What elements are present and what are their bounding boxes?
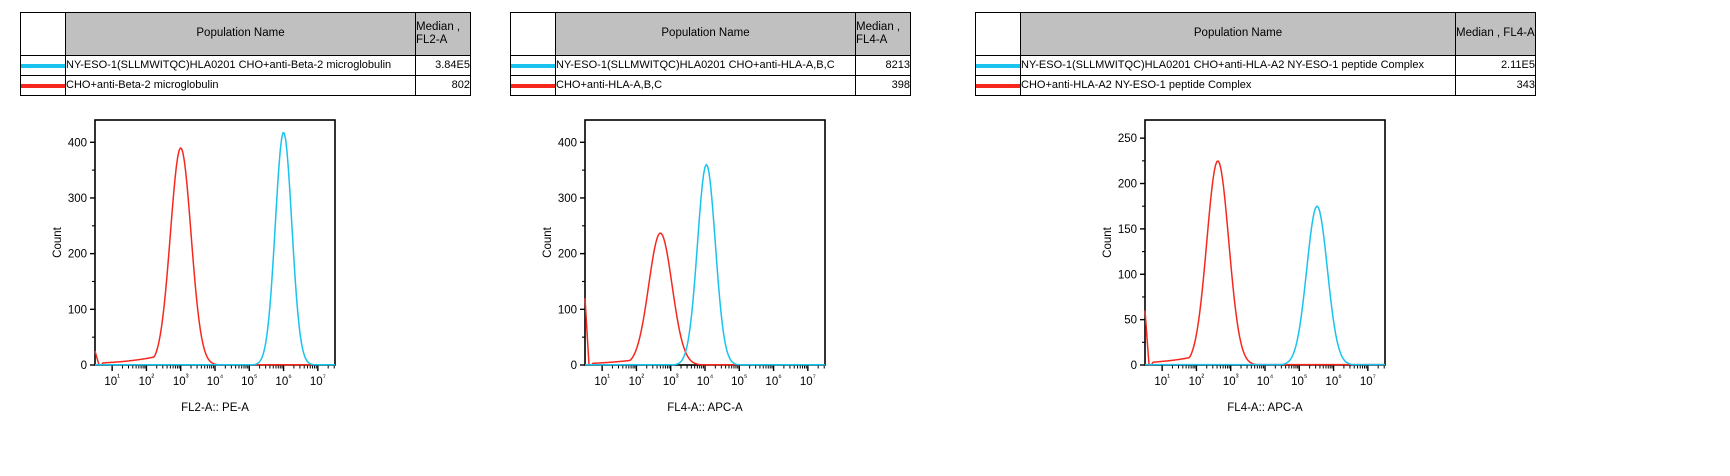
population-name-header: Population Name [1021,13,1456,56]
series-color-swatch-cell [511,56,556,76]
table-row: CHO+anti-HLA-A2 NY-ESO-1 peptide Complex… [976,76,1536,96]
population-name-header: Population Name [66,13,416,56]
x-tick-label: 10⁴ [207,372,224,388]
population-name-cell: CHO+anti-Beta-2 microglobulin [66,76,416,96]
series-color-swatch-cell [511,76,556,96]
y-tick-label: 50 [1124,315,1137,327]
y-tick-label: 100 [1118,269,1137,281]
y-tick-label: 300 [68,193,87,205]
table-row: CHO+anti-HLA-A,B,C398 [511,76,911,96]
median-header-line: FL2-A [416,34,470,47]
x-tick-label: 10⁷ [800,372,816,388]
median-value-cell: 398 [856,76,911,96]
y-tick-label: 100 [68,304,87,316]
histogram-chart: 010020030040010¹10²10³10⁴10⁵10⁶10⁷CountF… [47,110,343,417]
x-tick-label: 10⁴ [1257,372,1274,388]
median-header-line: Median , FL4-A [1456,27,1535,40]
legend-table: Population NameMedian ,FL2-ANY-ESO-1(SLL… [20,12,471,96]
x-tick-label: 10² [139,372,155,388]
x-axis-title: FL2-A:: PE-A [181,402,249,414]
y-axis-title: Count [542,226,554,257]
legend-color-header [21,13,66,56]
y-tick-label: 400 [68,137,87,149]
median-header-line: Median , [856,21,910,34]
table-row: CHO+anti-Beta-2 microglobulin802 [21,76,471,96]
median-value-cell: 343 [1456,76,1536,96]
table-row: NY-ESO-1(SLLMWITQC)HLA0201 CHO+anti-HLA-… [976,56,1536,76]
y-tick-label: 300 [558,193,577,205]
x-tick-label: 10³ [663,372,679,388]
y-tick-label: 150 [1118,224,1137,236]
histogram-chart: 010020030040010¹10²10³10⁴10⁵10⁶10⁷CountF… [537,110,833,417]
y-tick-label: 200 [1118,179,1137,191]
y-tick-label: 0 [1131,360,1137,372]
x-tick-label: 10⁷ [310,372,326,388]
y-tick-label: 0 [81,360,87,372]
population-name-cell: NY-ESO-1(SLLMWITQC)HLA0201 CHO+anti-HLA-… [556,56,856,76]
chart-canvas: 05010015020025010¹10²10³10⁴10⁵10⁶10⁷Coun… [1097,110,1393,417]
x-tick-label: 10⁶ [275,372,291,388]
y-tick-label: 250 [1118,133,1137,145]
x-tick-label: 10⁵ [241,372,257,388]
population-name-cell: CHO+anti-HLA-A,B,C [556,76,856,96]
series-color-swatch-cell [21,76,66,96]
median-header-line: FL4-A [856,34,910,47]
x-tick-label: 10⁶ [1325,372,1341,388]
median-header: Median ,FL4-A [856,13,911,56]
table-row: NY-ESO-1(SLLMWITQC)HLA0201 CHO+anti-HLA-… [511,56,911,76]
series-color-swatch-cell [976,56,1021,76]
population-name-cell: NY-ESO-1(SLLMWITQC)HLA0201 CHO+anti-HLA-… [1021,56,1456,76]
y-tick-label: 200 [68,249,87,261]
y-axis-title: Count [52,226,64,257]
x-tick-label: 10² [1189,372,1205,388]
median-header-line: Median , [416,21,470,34]
median-value-cell: 8213 [856,56,911,76]
color-swatch-cyan [21,64,65,68]
histogram-chart: 05010015020025010¹10²10³10⁴10⁵10⁶10⁷Coun… [1097,110,1393,417]
series-color-swatch-cell [976,76,1021,96]
x-axis-title: FL4-A:: APC-A [667,402,743,414]
series-color-swatch-cell [21,56,66,76]
population-name-header: Population Name [556,13,856,56]
x-tick-label: 10⁶ [765,372,781,388]
y-tick-label: 400 [558,137,577,149]
median-value-cell: 3.84E5 [416,56,471,76]
color-swatch-red [976,84,1020,88]
chart-canvas: 010020030040010¹10²10³10⁴10⁵10⁶10⁷CountF… [537,110,833,417]
median-header: Median , FL4-A [1456,13,1536,56]
x-tick-label: 10⁴ [697,372,714,388]
x-tick-label: 10² [629,372,645,388]
x-tick-label: 10⁵ [731,372,747,388]
y-tick-label: 200 [558,249,577,261]
legend-color-header [976,13,1021,56]
color-swatch-cyan [511,64,555,68]
color-swatch-red [21,84,65,88]
y-axis-title: Count [1102,226,1114,257]
x-tick-label: 10⁷ [1360,372,1376,388]
x-tick-label: 10¹ [104,372,120,388]
y-tick-label: 0 [571,360,577,372]
median-header: Median ,FL2-A [416,13,471,56]
color-swatch-red [511,84,555,88]
plot-frame [1145,120,1385,365]
chart-canvas: 010020030040010¹10²10³10⁴10⁵10⁶10⁷CountF… [47,110,343,417]
population-name-cell: CHO+anti-HLA-A2 NY-ESO-1 peptide Complex [1021,76,1456,96]
y-tick-label: 100 [558,304,577,316]
legend-table: Population NameMedian ,FL4-ANY-ESO-1(SLL… [510,12,911,96]
median-value-cell: 802 [416,76,471,96]
population-name-cell: NY-ESO-1(SLLMWITQC)HLA0201 CHO+anti-Beta… [66,56,416,76]
table-row: NY-ESO-1(SLLMWITQC)HLA0201 CHO+anti-Beta… [21,56,471,76]
x-tick-label: 10³ [1223,372,1239,388]
x-axis-title: FL4-A:: APC-A [1227,402,1303,414]
legend-color-header [511,13,556,56]
x-tick-label: 10¹ [594,372,610,388]
x-tick-label: 10³ [173,372,189,388]
x-tick-label: 10¹ [1154,372,1170,388]
plot-frame [585,120,825,365]
color-swatch-cyan [976,64,1020,68]
legend-table: Population NameMedian , FL4-ANY-ESO-1(SL… [975,12,1536,96]
x-tick-label: 10⁵ [1291,372,1307,388]
median-value-cell: 2.11E5 [1456,56,1536,76]
